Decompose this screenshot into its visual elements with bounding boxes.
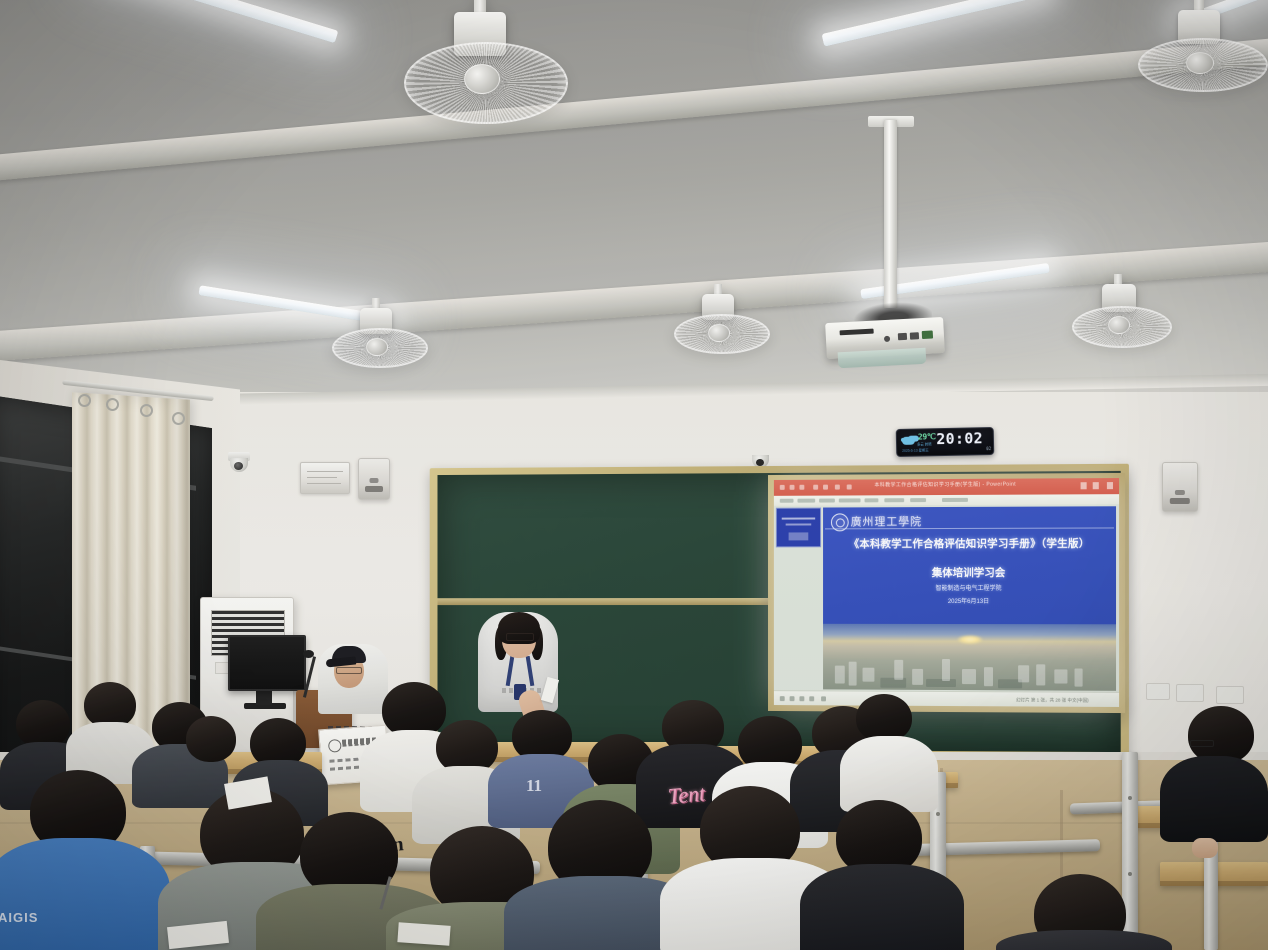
student-body [996,930,1172,950]
shirt-print-number: 11 [526,776,542,796]
ceiling-fan [672,288,768,350]
curtain-ring [106,398,119,411]
ceiling-fan [1138,2,1268,88]
clock-date-text: 2025-6-13 星期五 [902,447,929,453]
ceiling-fan [398,2,570,122]
classroom-photo: 本科教学工作合格评估知识学习手册(学生版) - PowerPoint [0,0,1268,950]
student-body [1160,756,1268,842]
student-head [856,694,912,742]
projected-image: 本科教学工作合格评估知识学习手册(学生版) - PowerPoint [774,478,1119,707]
glasses-icon [336,667,362,674]
projector-mount-rod [884,120,897,308]
slide-canvas: 廣州理工學院 《本科教学工作合格评估知识学习手册》（学生版） 集体培训学习会 智… [823,506,1116,691]
ceiling-fan [1070,278,1170,344]
slide-school-name: 廣州理工學院 [851,513,922,529]
sun-glow [957,635,983,644]
teacher-monitor[interactable] [228,635,306,691]
slide-subtitle-org: 智能制造与电气工程学院 [827,585,1112,594]
wall-socket[interactable] [1146,683,1170,700]
paper-on-desk [397,922,450,946]
glasses-icon [506,633,534,641]
close-icon[interactable] [1107,482,1113,489]
security-camera-lens [234,462,243,470]
wall-socket[interactable] [1216,686,1244,704]
university-logo-icon [328,739,342,753]
projection-screen: 本科教学工作合格评估知识学习手册(学生版) - PowerPoint [768,473,1125,713]
clock-time: 20:02 [936,431,983,447]
clock-seconds: 02 [986,446,991,451]
glasses-icon [1190,740,1214,747]
cloud-icon [902,437,915,445]
curtain-ring [172,412,185,425]
minimize-icon[interactable] [1081,482,1087,489]
maximize-icon[interactable] [1093,482,1099,489]
wall-speaker [358,458,390,500]
slide-campus-photo [823,624,1116,691]
curtain-ring [78,394,91,407]
student-head [16,700,70,748]
curtain-ring [140,404,153,417]
slide-subtitle-date: 2025年6月13日 [827,596,1112,605]
security-camera-lens [756,459,764,466]
clock-weather-text: 多云 转晴 [917,441,932,446]
student-head [186,716,236,762]
shirt-print-text: AIGIS [0,910,38,925]
powerpoint-titlebar: 本科教学工作合格评估知识学习手册(学生版) - PowerPoint [774,478,1119,496]
wall-control-box[interactable] [300,462,350,494]
shirt-print-aigis: AIGIS [0,876,102,912]
microphone-icon [303,650,314,658]
powerpoint-workspace: 廣州理工學院 《本科教学工作合格评估知识学习手册》（学生版） 集体培训学习会 智… [774,504,1119,693]
wall-socket[interactable] [1176,684,1204,702]
powerpoint-statusbar: 幻灯片 第 1 张，共 28 张 中文(中国) [774,690,1119,707]
clock-temperature: 29℃ [918,432,936,441]
wall-speaker [1162,462,1198,512]
slide-title-line2: 集体培训学习会 [827,565,1112,580]
student-body [800,864,964,950]
ceiling-fan [330,302,426,364]
slide-status-text: 幻灯片 第 1 张，共 28 张 中文(中国) [1016,697,1089,703]
student-hand [1192,838,1218,858]
slide-thumbnail-pane[interactable] [776,508,821,548]
slide-title-line1: 《本科教学工作合格评估知识学习手册》（学生版） [827,537,1112,552]
shirt-print-text: Tent [667,780,706,809]
digital-clock-display: 29℃ 多云 转晴 2025-6-13 星期五 20:02 02 [896,427,995,457]
